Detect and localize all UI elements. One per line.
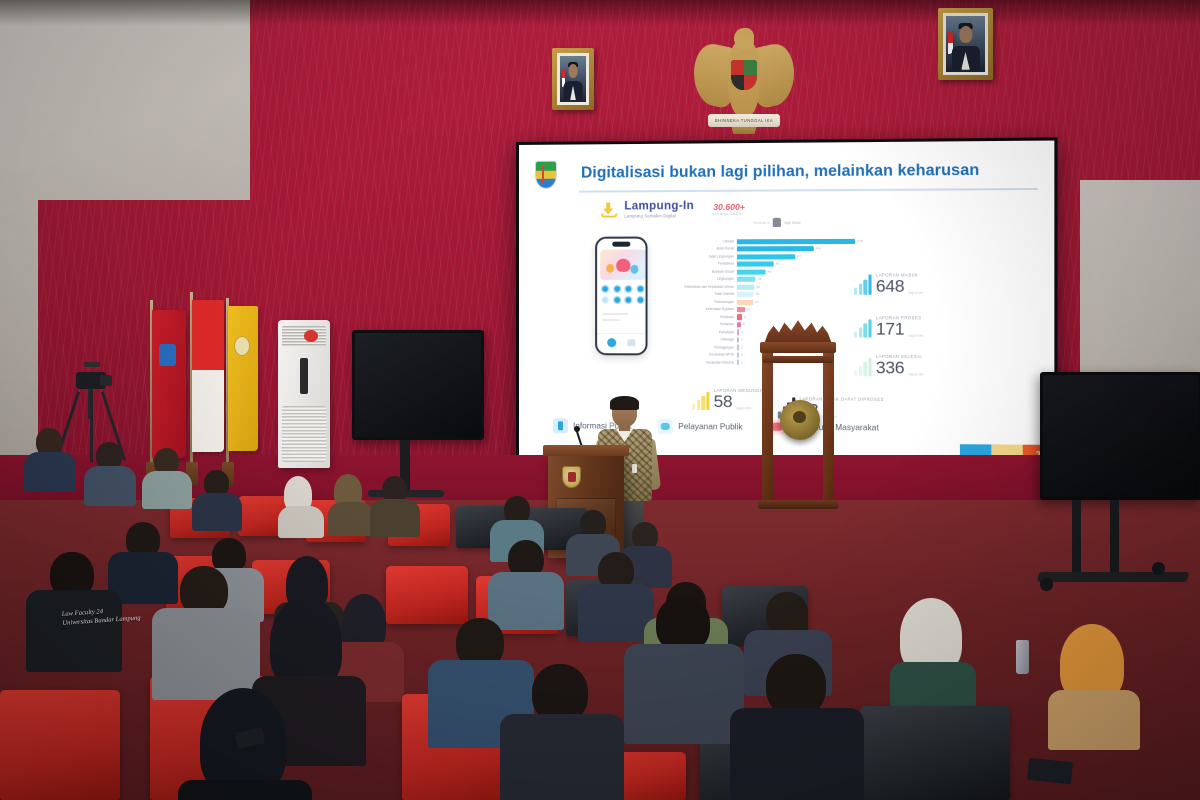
flag-organization [152, 310, 186, 458]
chart-value-label: 26 [754, 284, 760, 290]
app-store-badge: Tersedia di App Store [753, 218, 801, 227]
caster-wheel [1152, 562, 1165, 575]
camera-lens-icon [100, 375, 112, 386]
wall-monitor-left [352, 330, 484, 440]
chart-value-label: 55 [774, 261, 780, 268]
ceiling-shadow [0, 0, 1200, 26]
seat [386, 566, 468, 624]
chart-category-label: Lainnya [658, 238, 737, 245]
phone-mockup [595, 237, 647, 356]
chart-value-label: 3 [739, 329, 743, 335]
chart-category-label: Tidak Diambil [658, 291, 737, 298]
garuda-head [734, 28, 754, 50]
chart-bar-row: Jalan Rusak114 [658, 245, 873, 252]
chart-category-label: Perdagangan [658, 344, 737, 351]
chart-value-label: 2 [739, 337, 743, 343]
chart-value-label: 87 [795, 253, 801, 260]
store-prefix: Tersedia di [753, 220, 770, 224]
chart-category-label: Pertanian [658, 314, 737, 321]
wall-panel-left-lower [0, 170, 38, 470]
chart-bar-row: Kesehatan Rujukan12 [658, 306, 873, 313]
app-tagline: Lampung Semakin Digital [624, 213, 694, 218]
auditorium-photo: BHINNEKA TUNGGAL IKA Digitalisasi bukan … [0, 0, 1200, 800]
spark-menunggu [692, 390, 709, 410]
portrait-right [938, 8, 993, 80]
chart-bar [737, 246, 814, 251]
chart-category-label: Kesehatan Rujukan [658, 306, 737, 312]
camera-mic [84, 362, 100, 367]
chart-category-label: Lingkungan [658, 276, 737, 283]
chart-bar-row: Kebersihan dan Keindahan Umum26 [658, 284, 873, 291]
chart-category-label: Kebersihan dan Keindahan Umum [658, 284, 737, 291]
chart-bar-row: Lainnya176 [658, 238, 873, 245]
spark-masuk [854, 274, 872, 294]
stat-value-menunggu: 58 [714, 393, 733, 410]
store-label: App Store [784, 220, 800, 224]
pancasila-shield-icon [731, 60, 757, 90]
legend-item-pelayanan: Pelayanan Publik [658, 419, 743, 435]
phone-tabbar [597, 333, 645, 353]
chart-bar [737, 284, 754, 289]
app-icon-grid [601, 285, 645, 304]
chart-bar-row: Tidak Diambil25 [658, 291, 873, 298]
gong-disc [780, 400, 820, 440]
stat-laporan-menunggu: LAPORAN MENUNGGU 58 laporan [692, 388, 767, 411]
caster-wheel [1040, 578, 1053, 591]
chart-bar [737, 307, 745, 312]
seat [0, 690, 120, 800]
flag-golden [228, 306, 258, 451]
garuda-wing-right [754, 40, 794, 111]
app-header: Lampung-In Lampung Semakin Digital 30.60… [601, 200, 745, 219]
chart-value-label: 114 [814, 246, 821, 253]
handheld-phone [1027, 758, 1073, 784]
chart-bar-row: Jalan Lingkungan87 [658, 253, 873, 260]
chart-bar-row: Perhubungan24 [658, 299, 873, 306]
download-label: DOWNLOADS [713, 212, 745, 216]
stat-value-proses: 171 [876, 320, 904, 337]
legend-label-pelayanan: Pelayanan Publik [678, 422, 742, 432]
monitor-stand-right-2 [1110, 500, 1119, 578]
chart-bar [737, 277, 756, 282]
chart-value-label: 43 [766, 268, 772, 275]
stat-unit-selesai: laporan [908, 372, 923, 376]
chart-bar [737, 292, 754, 297]
chart-category-label: Pertanian [658, 321, 737, 328]
chart-category-label: Jalan Rusak [658, 246, 737, 253]
chart-bar-row: Pendidikan55 [658, 261, 873, 268]
spark-selesai [854, 356, 872, 376]
microphone-head [574, 426, 580, 432]
chart-bar [737, 239, 855, 245]
chart-value-label: 2 [739, 344, 743, 350]
chart-bar [737, 269, 766, 274]
stat-value-selesai: 336 [876, 359, 904, 376]
stat-laporan-proses: LAPORAN PROSES 171 laporan [854, 315, 924, 338]
monitor-stand-right-1 [1072, 500, 1081, 578]
phone-notch [612, 242, 630, 247]
chart-category-label: Bantuan Sosial [658, 269, 737, 276]
garuda-pancasila-emblem: BHINNEKA TUNGGAL IKA [690, 20, 798, 135]
chart-bar [737, 299, 753, 304]
stat-unit-menunggu: laporan [736, 406, 751, 410]
chart-category-label: Pendidikan [658, 261, 737, 268]
download-stat: 30.600+ DOWNLOADS [713, 202, 745, 216]
chart-category-label: Perhubungan [658, 299, 737, 305]
stat-laporan-masuk: LAPORAN MASUK 648 laporan [854, 272, 924, 294]
lampung-provincial-emblem-icon [535, 161, 557, 189]
chart-value-label: 12 [745, 306, 751, 312]
water-bottle [1016, 640, 1029, 674]
slide-title: Digitalisasi bukan lagi pilihan, melaink… [581, 161, 1031, 182]
chart-value-label: 28 [756, 276, 762, 282]
app-banner [600, 250, 646, 280]
public-service-icon [658, 419, 673, 434]
download-count: 30.600+ [713, 202, 745, 212]
chart-value-label: 24 [753, 299, 759, 305]
spark-proses [854, 317, 872, 337]
chart-value-label: 6 [741, 322, 745, 328]
chart-value-label: 176 [855, 238, 862, 245]
stat-laporan-selesai: LAPORAN SELESAI 336 laporan [854, 354, 924, 377]
flag-indonesia [192, 300, 224, 452]
chart-category-label: Olahraga [658, 337, 737, 344]
chart-category-label: Kesehatan BPJS [658, 352, 737, 359]
app-name: Lampung-In [624, 200, 694, 212]
portrait-left [552, 48, 594, 110]
stat-unit-proses: laporan [908, 334, 923, 338]
chart-category-label: Jalan Lingkungan [658, 253, 737, 260]
speaker-id-badge [632, 464, 637, 473]
download-icon [601, 201, 617, 217]
title-divider [579, 188, 1037, 192]
chart-value-label: 8 [742, 314, 746, 320]
tripod-leg [90, 390, 93, 462]
chart-bar [737, 254, 795, 259]
stat-unit-masuk: laporan [908, 291, 923, 295]
stat-value-masuk: 648 [876, 277, 904, 294]
seat [860, 706, 1010, 800]
traditional-gong [760, 318, 836, 508]
chart-value-label: 1 [739, 359, 743, 365]
chart-bar-row: Lingkungan28 [658, 276, 873, 283]
info-public-icon [553, 418, 568, 433]
standing-air-conditioner [278, 320, 330, 468]
chart-value-label: 25 [754, 291, 760, 297]
chart-value-label: 1 [739, 352, 743, 358]
chart-bar-row: Bantuan Sosial43 [658, 268, 873, 275]
podium-seal-icon [562, 466, 581, 488]
chart-category-label: Pariwisata [658, 329, 737, 336]
monitor-base-right [1037, 572, 1189, 582]
apple-icon [773, 218, 781, 227]
chart-category-label: Kesehatan RSUDA [658, 359, 737, 366]
garuda-motto-ribbon: BHINNEKA TUNGGAL IKA [708, 114, 780, 127]
chart-bar [737, 262, 774, 267]
mobile-display-monitor [1040, 372, 1200, 500]
